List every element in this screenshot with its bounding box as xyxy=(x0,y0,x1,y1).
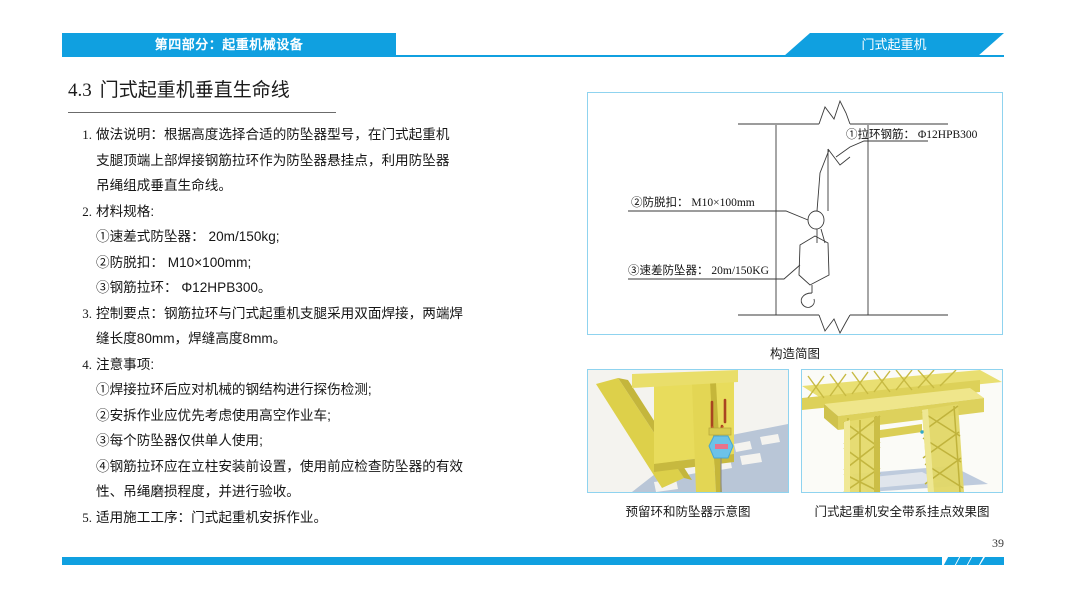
list-item-body: 注意事项: ①焊接拉环后应对机械的钢结构进行探伤检测; ②安拆作业应优先考虑使用… xyxy=(96,352,562,505)
list-item: 2. 材料规格: ①速差式防坠器： 20m/150kg; ②防脱扣： M10×1… xyxy=(62,199,562,301)
list-item: 5. 适用施工工序：门式起重机安拆作业。 xyxy=(62,505,562,531)
list-subline: ②防脱扣： M10×100mm; xyxy=(96,250,562,276)
list-subline: ④钢筋拉环应在立柱安装前设置，使用前应检查防坠器的有效 xyxy=(96,454,562,480)
list-line: 控制要点：钢筋拉环与门式起重机支腿采用双面焊接，两端焊 xyxy=(96,301,562,327)
diagram-label-3-text: ③速差防坠器： 20m/150KG xyxy=(628,263,769,277)
list-line: 做法说明：根据高度选择合适的防坠器型号，在门式起重机 xyxy=(96,122,562,148)
diagram-caption: 构造简图 xyxy=(587,343,1003,362)
list-line: 注意事项: xyxy=(96,352,562,378)
page-title-number: 4.3 xyxy=(68,80,92,101)
header-section-banner: 第四部分：起重机械设备 xyxy=(62,33,396,56)
header-topic-banner: 门式起重机 xyxy=(784,33,1004,56)
list-item: 1. 做法说明：根据高度选择合适的防坠器型号，在门式起重机 支腿顶端上部焊接钢筋… xyxy=(62,122,562,199)
list-subline: ③每个防坠器仅供单人使用; xyxy=(96,428,562,454)
list-line: 缝长度80mm，焊缝高度8mm。 xyxy=(96,326,562,352)
photo-right-caption: 门式起重机安全带系挂点效果图 xyxy=(801,501,1003,520)
list-subline: ①速差式防坠器： 20m/150kg; xyxy=(96,224,562,250)
diagram-svg: ①拉环钢筋： Φ12HPB300 ②防脱扣： M10×100mm ③速差防坠器：… xyxy=(588,93,1002,334)
list-item-body: 材料规格: ①速差式防坠器： 20m/150kg; ②防脱扣： M10×100m… xyxy=(96,199,562,301)
list-item-number: 3. xyxy=(62,301,96,327)
list-item: 4. 注意事项: ①焊接拉环后应对机械的钢结构进行探伤检测; ②安拆作业应优先考… xyxy=(62,352,562,505)
list-item-body: 适用施工工序：门式起重机安拆作业。 xyxy=(96,505,562,531)
footer-bar-end xyxy=(980,557,1004,565)
list-item-body: 控制要点：钢筋拉环与门式起重机支腿采用双面焊接，两端焊 缝长度80mm，焊缝高度… xyxy=(96,301,562,352)
photo-left-caption: 预留环和防坠器示意图 xyxy=(587,501,789,520)
list-subline: ①焊接拉环后应对机械的钢结构进行探伤检测; xyxy=(96,377,562,403)
list-item-body: 做法说明：根据高度选择合适的防坠器型号，在门式起重机 支腿顶端上部焊接钢筋拉环作… xyxy=(96,122,562,199)
list-subline: ③钢筋拉环： Φ12HPB300。 xyxy=(96,275,562,301)
construction-diagram: ①拉环钢筋： Φ12HPB300 ②防脱扣： M10×100mm ③速差防坠器：… xyxy=(587,92,1003,335)
list-subline: ②安拆作业应优先考虑使用高空作业车; xyxy=(96,403,562,429)
header-section-label: 第四部分：起重机械设备 xyxy=(62,33,396,56)
list-line: 吊绳组成垂直生命线。 xyxy=(96,173,562,199)
photo-left-svg xyxy=(588,370,788,492)
list-line: 适用施工工序：门式起重机安拆作业。 xyxy=(96,505,562,531)
footer-bar-solid xyxy=(62,557,942,565)
title-underline xyxy=(68,112,336,113)
photo-right-svg xyxy=(802,370,1002,492)
diagram-label-2-text: ②防脱扣： M10×100mm xyxy=(631,195,755,209)
list-line: 支腿顶端上部焊接钢筋拉环作为防坠器悬挂点，利用防坠器 xyxy=(96,148,562,174)
photo-gantry-anchor-point xyxy=(801,369,1003,493)
list-item-number: 4. xyxy=(62,352,96,378)
list-item-number: 2. xyxy=(62,199,96,225)
list-item-number: 5. xyxy=(62,505,96,531)
page-title-text: 门式起重机垂直生命线 xyxy=(100,80,290,101)
photo-preformed-loop xyxy=(587,369,789,493)
slide-page: 第四部分：起重机械设备 门式起重机 4.3门式起重机垂直生命线 1. 做法说明：… xyxy=(0,0,1066,600)
list-item: 3. 控制要点：钢筋拉环与门式起重机支腿采用双面焊接，两端焊 缝长度80mm，焊… xyxy=(62,301,562,352)
header-topic-label: 门式起重机 xyxy=(784,33,1004,56)
footer-bar xyxy=(62,557,1004,565)
diagram-label-1-text: ①拉环钢筋： Φ12HPB300 xyxy=(846,127,978,141)
list-subline: 性、吊绳磨损程度，并进行验收。 xyxy=(96,479,562,505)
page-title: 4.3门式起重机垂直生命线 xyxy=(68,75,290,102)
list-line: 材料规格: xyxy=(96,199,562,225)
list-item-number: 1. xyxy=(62,122,96,148)
page-number: 39 xyxy=(992,536,1004,551)
content-list: 1. 做法说明：根据高度选择合适的防坠器型号，在门式起重机 支腿顶端上部焊接钢筋… xyxy=(62,122,562,530)
slide-header: 第四部分：起重机械设备 门式起重机 xyxy=(0,0,1066,70)
